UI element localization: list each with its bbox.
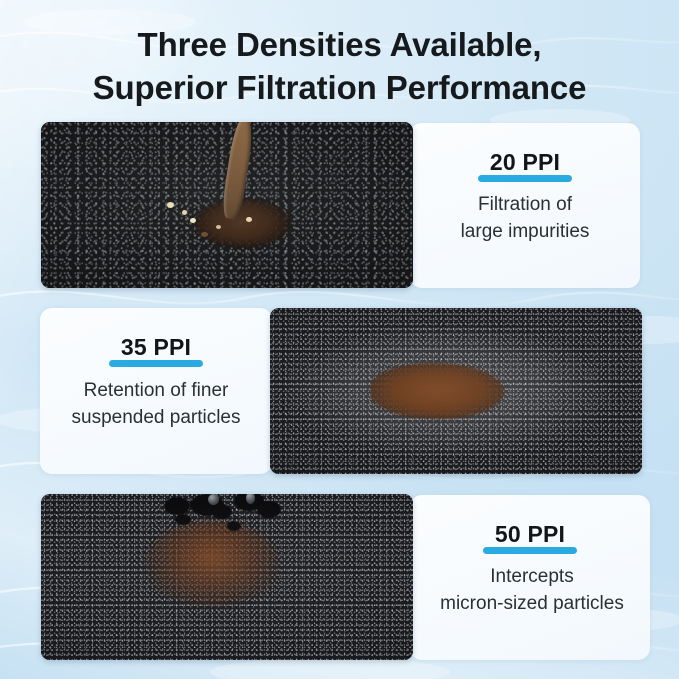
ppi-badge: 20 PPI xyxy=(488,149,562,179)
density-description: Intercepts micron-sized particles xyxy=(404,564,660,617)
ppi-underline-bar xyxy=(109,360,203,367)
ppi-badge: 50 PPI xyxy=(493,521,567,551)
foam-photo-35ppi xyxy=(270,308,642,474)
ppi-value: 35 PPI xyxy=(121,334,191,360)
ppi-label-wrap: 35 PPI xyxy=(40,334,272,364)
density-description: Filtration of large impurities xyxy=(410,192,640,245)
foam-photo-20ppi xyxy=(41,122,413,288)
ppi-underline-bar xyxy=(483,547,577,554)
ppi-label-wrap: 50 PPI xyxy=(410,521,650,551)
density-description: Retention of finer suspended particles xyxy=(28,378,284,431)
ppi-value: 20 PPI xyxy=(490,149,560,175)
ppi-underline-bar xyxy=(478,175,572,182)
ppi-value: 50 PPI xyxy=(495,521,565,547)
page-title: Three Densities Available, Superior Filt… xyxy=(0,24,679,110)
ppi-label-wrap: 20 PPI xyxy=(410,149,640,179)
ppi-badge: 35 PPI xyxy=(119,334,193,364)
foam-photo-50ppi xyxy=(41,494,413,660)
infographic-canvas: Three Densities Available, Superior Filt… xyxy=(0,0,679,679)
